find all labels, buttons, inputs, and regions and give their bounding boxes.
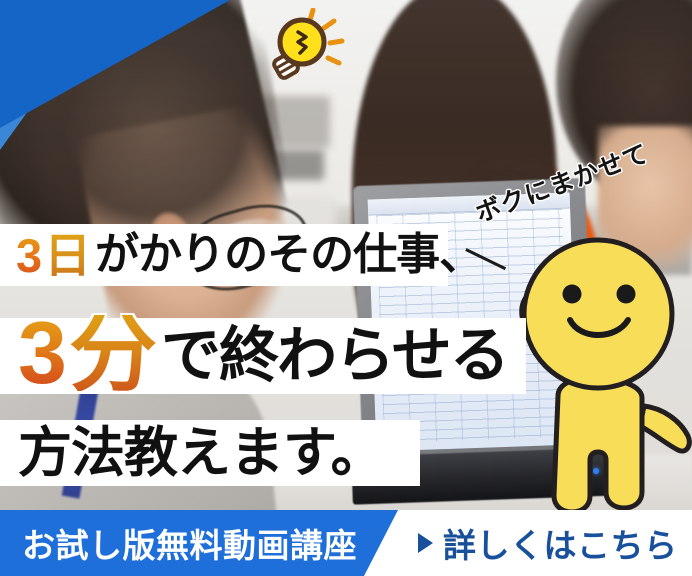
bottom-cta-bar[interactable]: お試し版無料動画講座 詳しくはこちら [0,510,692,576]
advertisement-banner: ボクにまかせて 3 日 がかりのその仕事、 3 分 で終わらせる 方法教えます。 [0,0,692,576]
headline-band-3: 方法教えます。 [0,420,420,486]
mascot-eye-left [563,285,582,304]
headline-band-2: 3 分 で終わらせる [0,318,526,394]
cta-label: お試し版無料動画講座 [22,510,357,576]
headline-text-3: 方法教えます。 [18,426,384,480]
mascot-eye-right [617,285,636,304]
triangle-right-icon [418,533,433,553]
details-link[interactable]: 詳しくはこちら [418,510,678,576]
headline-text-2: で終わらせる [161,326,508,386]
headline-number-1: 3 [16,232,44,279]
headline-number-2: 3 [18,315,69,391]
headline-text-1: がかりのその仕事、 [95,233,482,277]
lightbulb-icon [258,8,354,88]
details-link-label: 詳しくはこちら [443,519,678,567]
headline-unit-1: 日 [44,232,95,279]
headline-band-1: 3 日 がかりのその仕事、 [0,224,448,286]
headline-unit-2: 分 [69,315,161,391]
